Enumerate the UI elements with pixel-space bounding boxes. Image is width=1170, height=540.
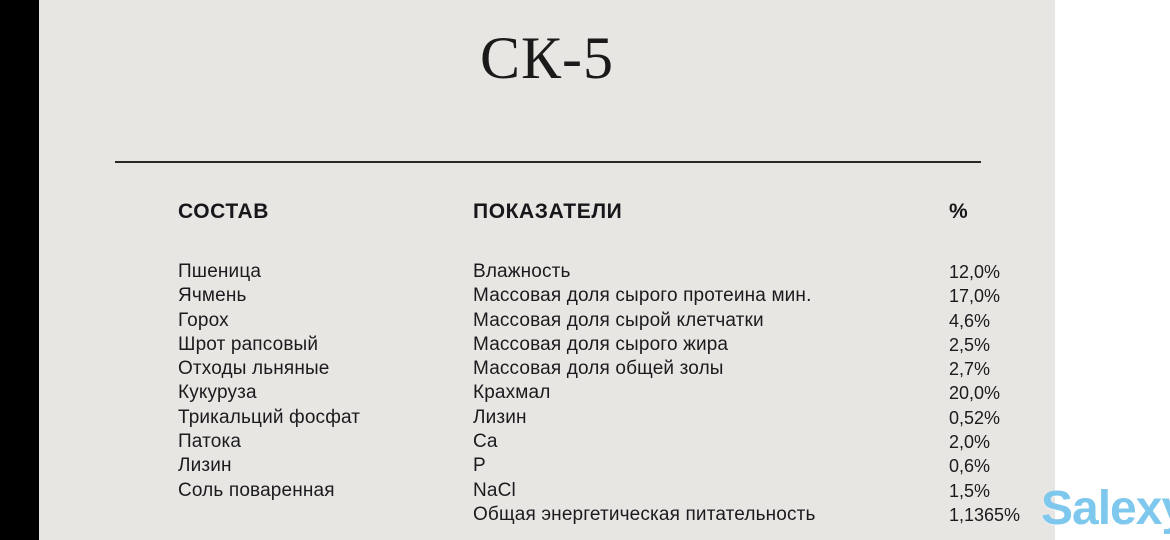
composition-table: СОСТАВ ПОКАЗАТЕЛИ % ПшеницаЯчменьГорохШр… xyxy=(39,0,1055,540)
table-row: Массовая доля сырого протеина мин. xyxy=(473,284,933,308)
table-row: Массовая доля сырого жира xyxy=(473,333,933,357)
table-row: Шрот рапсовый xyxy=(178,333,468,357)
table-row: Массовая доля сырой клетчатки xyxy=(473,309,933,333)
table-row: 2,5% xyxy=(949,333,1059,357)
table-row: 0,6% xyxy=(949,454,1059,478)
left-black-band xyxy=(0,0,39,540)
column-header-percent: % xyxy=(949,200,968,224)
table-row: Патока xyxy=(178,430,468,454)
table-row: 0,52% xyxy=(949,406,1059,430)
table-row: Соль поваренная xyxy=(178,479,468,503)
column-header-ingredients: СОСТАВ xyxy=(178,200,269,224)
table-row: Влажность xyxy=(473,260,933,284)
salexy-watermark: Salexy xyxy=(1041,485,1170,533)
parameters-column: ВлажностьМассовая доля сырого протеина м… xyxy=(473,260,933,527)
table-row: Массовая доля общей золы xyxy=(473,357,933,381)
table-row: Общая энергетическая питательность xyxy=(473,503,933,527)
table-row: Лизин xyxy=(178,454,468,478)
table-row: NaCl xyxy=(473,479,933,503)
column-header-parameters: ПОКАЗАТЕЛИ xyxy=(473,200,622,224)
table-row: Отходы льняные xyxy=(178,357,468,381)
table-row: Ячмень xyxy=(178,284,468,308)
table-row: Крахмал xyxy=(473,381,933,405)
table-row: Ca xyxy=(473,430,933,454)
table-row: 20,0% xyxy=(949,381,1059,405)
table-row: Кукуруза xyxy=(178,381,468,405)
table-row: 2,0% xyxy=(949,430,1059,454)
table-row: P xyxy=(473,454,933,478)
right-white-band xyxy=(1055,0,1170,540)
table-row: Горох xyxy=(178,309,468,333)
slide-root: СК-5 СОСТАВ ПОКАЗАТЕЛИ % ПшеницаЯчменьГо… xyxy=(0,0,1170,540)
table-row: Трикальций фосфат xyxy=(178,406,468,430)
table-row: 12,0% xyxy=(949,260,1059,284)
slide-canvas: СК-5 СОСТАВ ПОКАЗАТЕЛИ % ПшеницаЯчменьГо… xyxy=(39,0,1055,540)
table-row: 4,6% xyxy=(949,309,1059,333)
table-row: Пшеница xyxy=(178,260,468,284)
table-row: 2,7% xyxy=(949,357,1059,381)
table-row: 17,0% xyxy=(949,284,1059,308)
ingredients-column: ПшеницаЯчменьГорохШрот рапсовыйОтходы ль… xyxy=(178,260,468,503)
table-row: Лизин xyxy=(473,406,933,430)
